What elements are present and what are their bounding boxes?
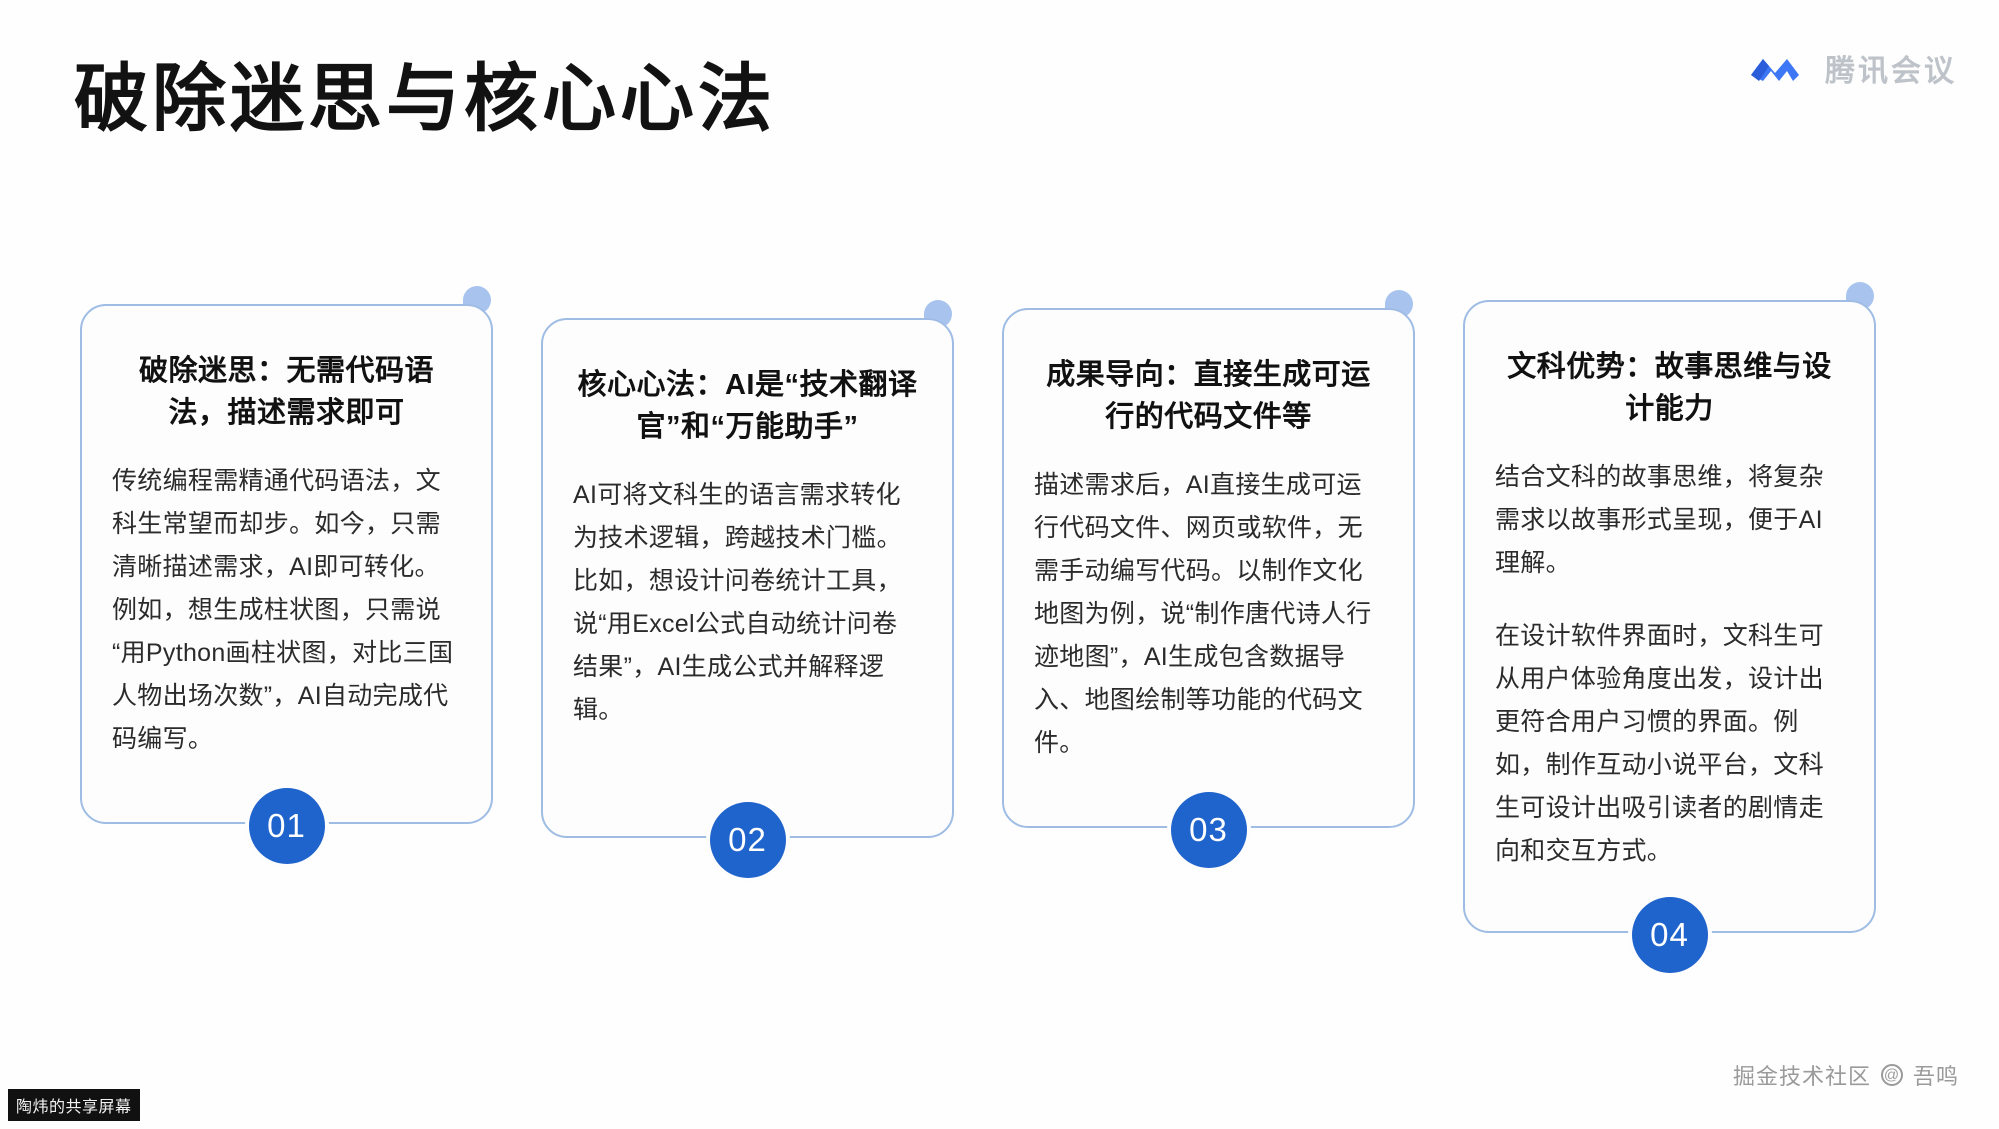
- card-title: 核心心法：AI是“技术翻译官”和“万能助手”: [573, 364, 922, 448]
- at-icon: [1881, 1064, 1903, 1086]
- presentation-slide: 腾讯会议 破除迷思与核心心法 破除迷思：无需代码语法，描述需求即可 传统编程需精…: [0, 0, 1999, 1129]
- card-paragraph: AI可将文科生的语言需求转化为技术逻辑，跨越技术门槛。比如，想设计问卷统计工具，…: [573, 474, 922, 732]
- card-title: 破除迷思：无需代码语法，描述需求即可: [112, 350, 461, 434]
- card-text: 描述需求后，AI直接生成可运行代码文件、网页或软件，无需手动编写代码。以制作文化…: [1034, 464, 1383, 765]
- card-text: AI可将文科生的语言需求转化为技术逻辑，跨越技术门槛。比如，想设计问卷统计工具，…: [573, 474, 922, 732]
- card-text: 传统编程需精通代码语法，文科生常望而却步。如今，只需清晰描述需求，AI即可转化。…: [112, 460, 461, 761]
- card-04: 文科优势：故事思维与设计能力 结合文科的故事思维，将复杂需求以故事形式呈现，便于…: [1463, 300, 1876, 933]
- card-number-badge: 03: [1171, 792, 1247, 868]
- card-body-04: 文科优势：故事思维与设计能力 结合文科的故事思维，将复杂需求以故事形式呈现，便于…: [1463, 300, 1876, 933]
- card-number-badge: 02: [710, 802, 786, 878]
- card-number-badge: 04: [1632, 897, 1708, 973]
- watermark-source: 掘金技术社区: [1733, 1059, 1871, 1091]
- card-paragraph: 传统编程需精通代码语法，文科生常望而却步。如今，只需清晰描述需求，AI即可转化。…: [112, 460, 461, 761]
- card-number-badge: 01: [249, 788, 325, 864]
- cards-row: 破除迷思：无需代码语法，描述需求即可 传统编程需精通代码语法，文科生常望而却步。…: [80, 300, 1930, 933]
- card-02: 核心心法：AI是“技术翻译官”和“万能助手” AI可将文科生的语言需求转化为技术…: [541, 318, 954, 838]
- card-paragraph: 描述需求后，AI直接生成可运行代码文件、网页或软件，无需手动编写代码。以制作文化…: [1034, 464, 1383, 765]
- page-title: 破除迷思与核心心法: [74, 58, 776, 139]
- watermark: 掘金技术社区 吾鸣: [1733, 1059, 1959, 1091]
- card-body-03: 成果导向：直接生成可运行的代码文件等 描述需求后，AI直接生成可运行代码文件、网…: [1002, 308, 1415, 828]
- card-03: 成果导向：直接生成可运行的代码文件等 描述需求后，AI直接生成可运行代码文件、网…: [1002, 308, 1415, 828]
- card-01: 破除迷思：无需代码语法，描述需求即可 传统编程需精通代码语法，文科生常望而却步。…: [80, 304, 493, 824]
- card-text: 结合文科的故事思维，将复杂需求以故事形式呈现，便于AI理解。 在设计软件界面时，…: [1495, 456, 1844, 873]
- card-paragraph: 在设计软件界面时，文科生可从用户体验角度出发，设计出更符合用户习惯的界面。例如，…: [1495, 615, 1844, 873]
- card-title: 文科优势：故事思维与设计能力: [1495, 346, 1844, 430]
- tencent-meeting-logo-icon: [1749, 51, 1809, 85]
- card-body-01: 破除迷思：无需代码语法，描述需求即可 传统编程需精通代码语法，文科生常望而却步。…: [80, 304, 493, 824]
- card-paragraph: 结合文科的故事思维，将复杂需求以故事形式呈现，便于AI理解。: [1495, 456, 1844, 585]
- card-body-02: 核心心法：AI是“技术翻译官”和“万能助手” AI可将文科生的语言需求转化为技术…: [541, 318, 954, 838]
- tencent-meeting-brand: 腾讯会议: [1749, 46, 1957, 90]
- watermark-author: 吾鸣: [1913, 1059, 1959, 1091]
- screen-share-indicator: 陶炜的共享屏幕: [8, 1089, 140, 1121]
- brand-name: 腾讯会议: [1825, 46, 1957, 90]
- card-title: 成果导向：直接生成可运行的代码文件等: [1034, 354, 1383, 438]
